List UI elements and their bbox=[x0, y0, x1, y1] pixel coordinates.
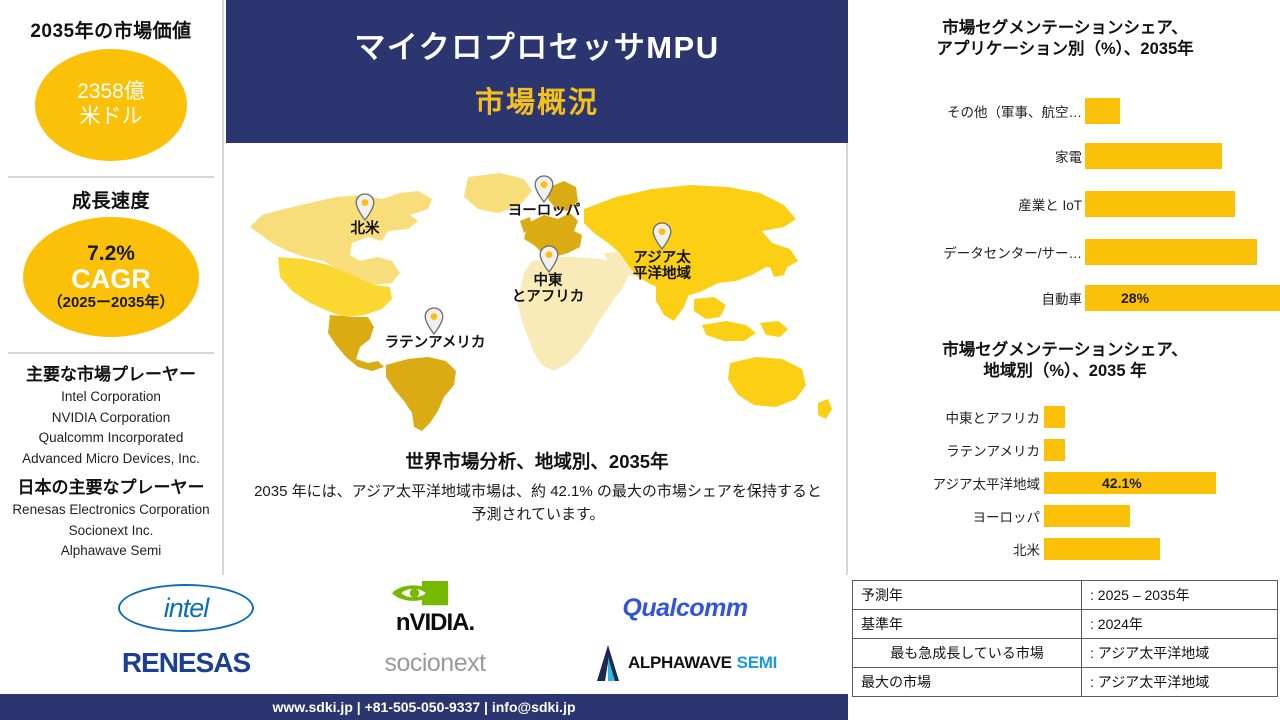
growth-rate-oval: 7.2% CAGR （2025ー2035年） bbox=[23, 217, 199, 337]
map-pin-middle-east-africa bbox=[538, 245, 560, 273]
application-chart: その他（軍事、航空… 家電 産業と IoT データセンター/サー… 自動車 28… bbox=[850, 90, 1280, 320]
bar-rect bbox=[1044, 538, 1160, 560]
bar-value-label: 42.1% bbox=[1102, 475, 1142, 491]
table-row: ヨーロッパ bbox=[850, 499, 1280, 532]
japan-players-title: 日本の主要なプレーヤー bbox=[0, 473, 222, 498]
table-row: ラテンアメリカ bbox=[850, 433, 1280, 466]
table-cell-value: : アジア太平洋地域 bbox=[1082, 639, 1278, 668]
bar-rect bbox=[1085, 191, 1235, 217]
market-value-block: 2035年の市場価値 2358億 米ドル bbox=[0, 16, 222, 161]
intel-logo-text: intel bbox=[164, 593, 209, 624]
bar-rect bbox=[1085, 98, 1120, 124]
bar-label: ラテンアメリカ bbox=[850, 440, 1040, 460]
intel-ring-icon: intel bbox=[118, 584, 254, 632]
market-value-oval: 2358億 米ドル bbox=[35, 49, 187, 161]
info-table: 予測年 : 2025 – 2035年 基準年 : 2024年 最も急成長している… bbox=[852, 580, 1278, 697]
table-cell-value: : 2025 – 2035年 bbox=[1082, 581, 1278, 610]
bar-label: その他（軍事、航空… bbox=[850, 101, 1082, 121]
list-item: NVIDIA Corporation bbox=[0, 408, 222, 429]
intel-logo: intel bbox=[96, 583, 276, 633]
map-panel: 北米 ヨーロッパ アジア太 平洋地域 中東 とアフリカ ラテンアメリカ 世界市場… bbox=[226, 143, 848, 575]
map-heading: 世界市場分析、地域別、2035年 bbox=[226, 448, 848, 474]
qualcomm-logo: Qualcomm bbox=[590, 583, 780, 633]
alphawave-semi-logo: ALPHAWAVE SEMI bbox=[586, 639, 786, 687]
bar-label: データセンター/サー… bbox=[850, 242, 1082, 262]
bar-label: 産業と IoT bbox=[850, 194, 1082, 214]
table-row: 基準年 : 2024年 bbox=[853, 610, 1278, 639]
bar-label: 自動車 bbox=[850, 288, 1082, 308]
growth-rate-title: 成長速度 bbox=[0, 186, 222, 213]
map-label-north-america: 北米 bbox=[335, 221, 395, 237]
list-item: Qualcomm Incorporated bbox=[0, 428, 222, 449]
cagr-label: CAGR bbox=[71, 265, 151, 295]
bar-value-label: 28% bbox=[1121, 290, 1149, 306]
table-cell-value: : アジア太平洋地域 bbox=[1082, 668, 1278, 697]
region-chart-title-line1: 市場セグメンテーションシェア、 bbox=[860, 340, 1270, 361]
map-label-europe: ヨーロッパ bbox=[484, 203, 604, 219]
bar-rect bbox=[1044, 439, 1065, 461]
page-title: マイクロプロセッサMPU bbox=[354, 22, 719, 67]
socionext-logo-text: socionext bbox=[384, 649, 485, 678]
market-value-title: 2035年の市場価値 bbox=[0, 16, 222, 43]
semi-text: SEMI bbox=[737, 653, 777, 673]
region-chart-title-line2: 地域別（%）、2035 年 bbox=[860, 361, 1270, 382]
application-chart-title-line2: アプリケーション別（%）、2035年 bbox=[860, 39, 1270, 60]
left-sidebar: 2035年の市場価値 2358億 米ドル 成長速度 7.2% CAGR （202… bbox=[0, 0, 224, 575]
divider-1 bbox=[8, 176, 214, 178]
bar-rect bbox=[1085, 239, 1257, 265]
table-row: 北米 bbox=[850, 532, 1280, 565]
table-cell-key: 最大の市場 bbox=[853, 668, 1082, 697]
logo-strip: intel nVIDIA. Qualcomm RENESAS socionext bbox=[0, 577, 848, 692]
table-row: 予測年 : 2025 – 2035年 bbox=[853, 581, 1278, 610]
renesas-logo: RENESAS bbox=[96, 639, 276, 687]
bar-rect: 28% bbox=[1085, 285, 1280, 311]
table-cell-key: 最も急成長している市場 bbox=[853, 639, 1082, 668]
page-subtitle: 市場概況 bbox=[475, 79, 599, 121]
cagr-percent: 7.2% bbox=[87, 243, 135, 265]
table-cell-key: 基準年 bbox=[853, 610, 1082, 639]
table-row: 自動車 28% bbox=[850, 276, 1280, 320]
table-cell-value: : 2024年 bbox=[1082, 610, 1278, 639]
header-banner: マイクロプロセッサMPU 市場概況 bbox=[226, 0, 848, 143]
region-chart-title: 市場セグメンテーションシェア、 地域別（%）、2035 年 bbox=[860, 340, 1270, 382]
table-row: 中東とアフリカ bbox=[850, 400, 1280, 433]
key-players-block: 主要な市場プレーヤー Intel Corporation NVIDIA Corp… bbox=[0, 360, 222, 469]
map-pin-latin-america bbox=[423, 307, 445, 335]
bar-rect bbox=[1085, 143, 1222, 169]
bar-label: 家電 bbox=[850, 146, 1082, 166]
list-item: Intel Corporation bbox=[0, 387, 222, 408]
key-players-title: 主要な市場プレーヤー bbox=[0, 360, 222, 385]
nvidia-logo-text: nVIDIA. bbox=[396, 609, 474, 637]
growth-rate-block: 成長速度 7.2% CAGR （2025ー2035年） bbox=[0, 186, 222, 337]
bar-rect bbox=[1044, 505, 1130, 527]
list-item: Renesas Electronics Corporation bbox=[0, 500, 222, 521]
table-cell-key: 予測年 bbox=[853, 581, 1082, 610]
bar-rect: 42.1% bbox=[1044, 472, 1216, 494]
bar-rect bbox=[1044, 406, 1065, 428]
bar-label: 北米 bbox=[850, 539, 1040, 559]
table-row: 産業と IoT bbox=[850, 180, 1280, 228]
table-row: データセンター/サー… bbox=[850, 228, 1280, 276]
alphawave-mark-icon bbox=[595, 643, 621, 683]
map-pin-europe bbox=[533, 175, 555, 203]
socionext-logo: socionext bbox=[340, 639, 530, 687]
application-chart-title-line1: 市場セグメンテーションシェア、 bbox=[860, 18, 1270, 39]
table-row: アジア太平洋地域 42.1% bbox=[850, 466, 1280, 499]
list-item: Socionext Inc. bbox=[0, 521, 222, 542]
divider-2 bbox=[8, 352, 214, 354]
market-value-line1: 2358億 bbox=[77, 80, 145, 105]
table-row: 家電 bbox=[850, 132, 1280, 180]
bar-label: アジア太平洋地域 bbox=[850, 473, 1040, 493]
nvidia-eye-icon bbox=[385, 581, 485, 609]
map-label-middle-east-africa: 中東 とアフリカ bbox=[488, 273, 608, 305]
bar-label: ヨーロッパ bbox=[850, 506, 1040, 526]
map-description: 2035 年には、アジア太平洋地域市場は、約 42.1% の最大の市場シェアを保… bbox=[252, 480, 824, 527]
world-map: 北米 ヨーロッパ アジア太 平洋地域 中東 とアフリカ ラテンアメリカ bbox=[232, 165, 842, 435]
market-value-line2: 米ドル bbox=[80, 105, 143, 130]
list-item: Alphawave Semi bbox=[0, 541, 222, 562]
qualcomm-logo-text: Qualcomm bbox=[622, 594, 747, 623]
table-row: 最大の市場 : アジア太平洋地域 bbox=[853, 668, 1278, 697]
application-chart-title: 市場セグメンテーションシェア、 アプリケーション別（%）、2035年 bbox=[860, 18, 1270, 60]
bar-label: 中東とアフリカ bbox=[850, 407, 1040, 427]
cagr-period: （2025ー2035年） bbox=[48, 294, 175, 311]
japan-players-block: 日本の主要なプレーヤー Renesas Electronics Corporat… bbox=[0, 473, 222, 562]
alphawave-text: ALPHAWAVE bbox=[628, 653, 732, 673]
footer-bar: www.sdki.jp | +81-505-050-9337 | info@sd… bbox=[0, 694, 848, 720]
table-row: その他（軍事、航空… bbox=[850, 90, 1280, 132]
map-pin-north-america bbox=[354, 193, 376, 221]
list-item: Advanced Micro Devices, Inc. bbox=[0, 449, 222, 470]
map-label-asia-pacific: アジア太 平洋地域 bbox=[602, 250, 722, 282]
nvidia-logo: nVIDIA. bbox=[340, 581, 530, 637]
footer-contact-text: www.sdki.jp | +81-505-050-9337 | info@sd… bbox=[272, 699, 575, 715]
table-row: 最も急成長している市場 : アジア太平洋地域 bbox=[853, 639, 1278, 668]
map-label-latin-america: ラテンアメリカ bbox=[350, 335, 520, 351]
right-charts-panel: 市場セグメンテーションシェア、 アプリケーション別（%）、2035年 その他（軍… bbox=[850, 0, 1280, 575]
map-pin-asia-pacific bbox=[651, 222, 673, 250]
region-chart: 中東とアフリカ ラテンアメリカ アジア太平洋地域 42.1% ヨーロッパ 北米 bbox=[850, 400, 1280, 565]
infographic-root: 2035年の市場価値 2358億 米ドル 成長速度 7.2% CAGR （202… bbox=[0, 0, 1280, 720]
renesas-logo-text: RENESAS bbox=[122, 647, 250, 679]
